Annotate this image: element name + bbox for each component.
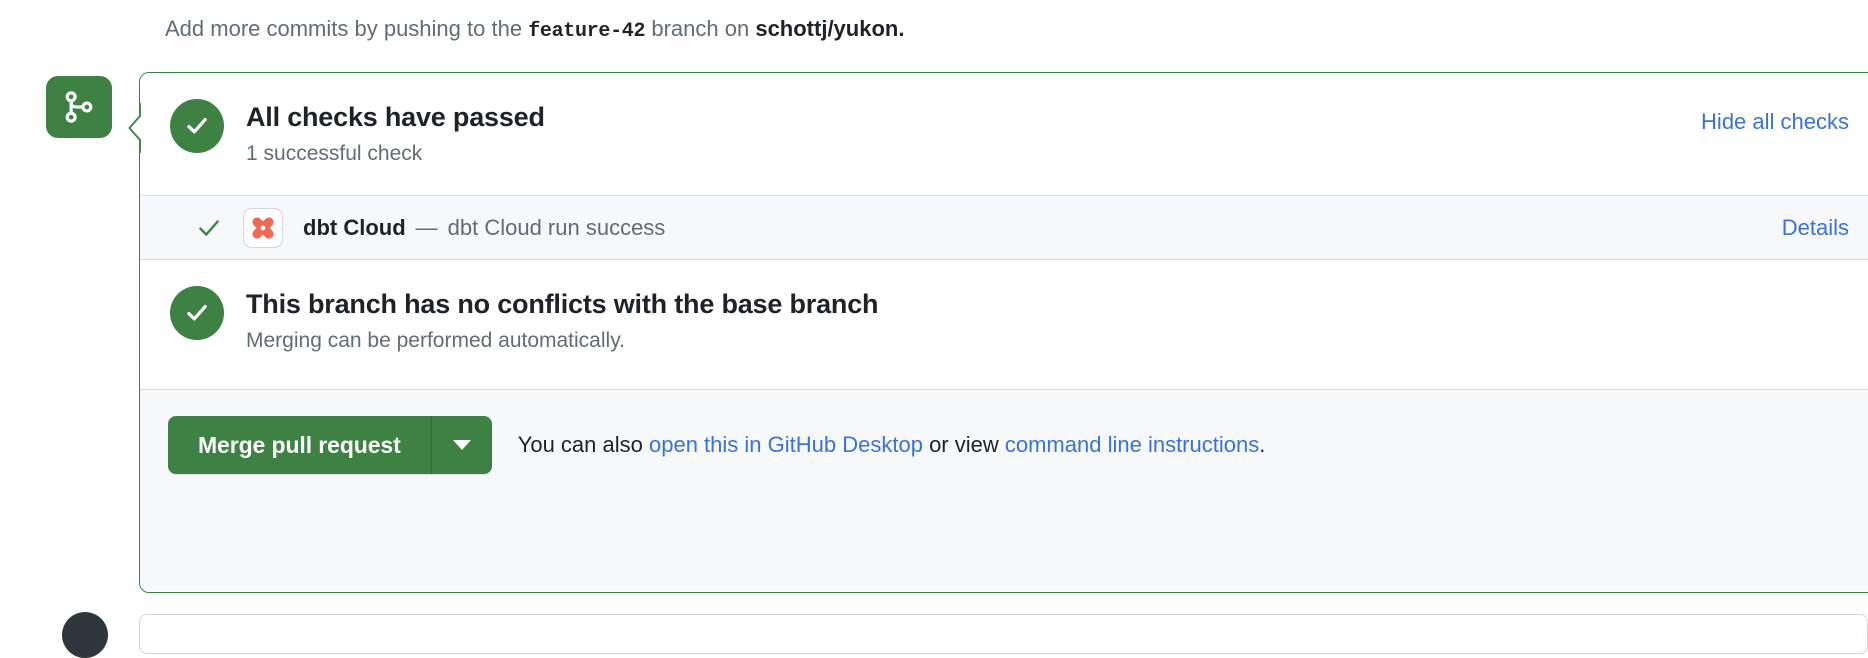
push-note-suffix: .: [898, 16, 904, 41]
merge-options-dropdown-button[interactable]: [432, 416, 492, 474]
push-note-middle: branch on: [651, 16, 749, 41]
checks-summary-subtitle: 1 successful check: [246, 140, 545, 168]
avatar[interactable]: [62, 612, 108, 658]
notch-arrow-icon: [128, 103, 141, 153]
check-circle-icon: [183, 299, 211, 327]
checks-summary-section: All checks have passed 1 successful chec…: [140, 73, 1868, 196]
conflicts-subtitle: Merging can be performed automatically.: [246, 327, 878, 355]
open-in-github-desktop-link[interactable]: open this in GitHub Desktop: [649, 432, 923, 457]
check-status-icon: [195, 215, 223, 241]
check-separator: —: [416, 215, 438, 241]
checks-passed-status-icon: [170, 99, 224, 153]
merge-status-box: All checks have passed 1 successful chec…: [139, 72, 1868, 593]
dbt-cloud-icon: [243, 208, 283, 248]
chevron-down-icon: [453, 440, 471, 450]
merge-helper-middle: or view: [929, 432, 999, 457]
push-more-commits-note: Add more commits by pushing to the featu…: [165, 14, 904, 47]
check-app-name: dbt Cloud: [303, 215, 406, 241]
hide-all-checks-link[interactable]: Hide all checks: [1701, 109, 1849, 135]
merge-button-group: Merge pull request: [168, 416, 492, 474]
merge-helper-suffix: .: [1259, 432, 1265, 457]
check-row: dbt Cloud — dbt Cloud run success Detail…: [140, 196, 1868, 260]
merge-helper-prefix: You can also: [518, 432, 643, 457]
merge-pull-request-button[interactable]: Merge pull request: [168, 416, 432, 474]
dbt-logo-glyph: [246, 211, 280, 245]
branch-name: feature-42: [528, 20, 645, 43]
conflicts-section: This branch has no conflicts with the ba…: [140, 260, 1868, 390]
git-merge-icon: [62, 89, 96, 125]
merge-helper-text: You can also open this in GitHub Desktop…: [518, 416, 1266, 474]
next-comment-box: [139, 614, 1868, 654]
merge-action-section: Merge pull request You can also open thi…: [140, 390, 1868, 590]
check-details-link[interactable]: Details: [1782, 215, 1849, 241]
checks-summary-title: All checks have passed: [246, 101, 545, 133]
check-description: dbt Cloud run success: [448, 215, 666, 241]
merge-box-notch: [128, 103, 141, 153]
check-icon: [196, 215, 222, 241]
command-line-instructions-link[interactable]: command line instructions: [1005, 432, 1259, 457]
timeline-merge-badge: [46, 76, 112, 138]
push-note-prefix: Add more commits by pushing to the: [165, 16, 522, 41]
check-circle-icon: [183, 112, 211, 140]
conflicts-title: This branch has no conflicts with the ba…: [246, 288, 878, 320]
repository-name: schottj/yukon: [755, 16, 898, 41]
no-conflicts-status-icon: [170, 286, 224, 340]
